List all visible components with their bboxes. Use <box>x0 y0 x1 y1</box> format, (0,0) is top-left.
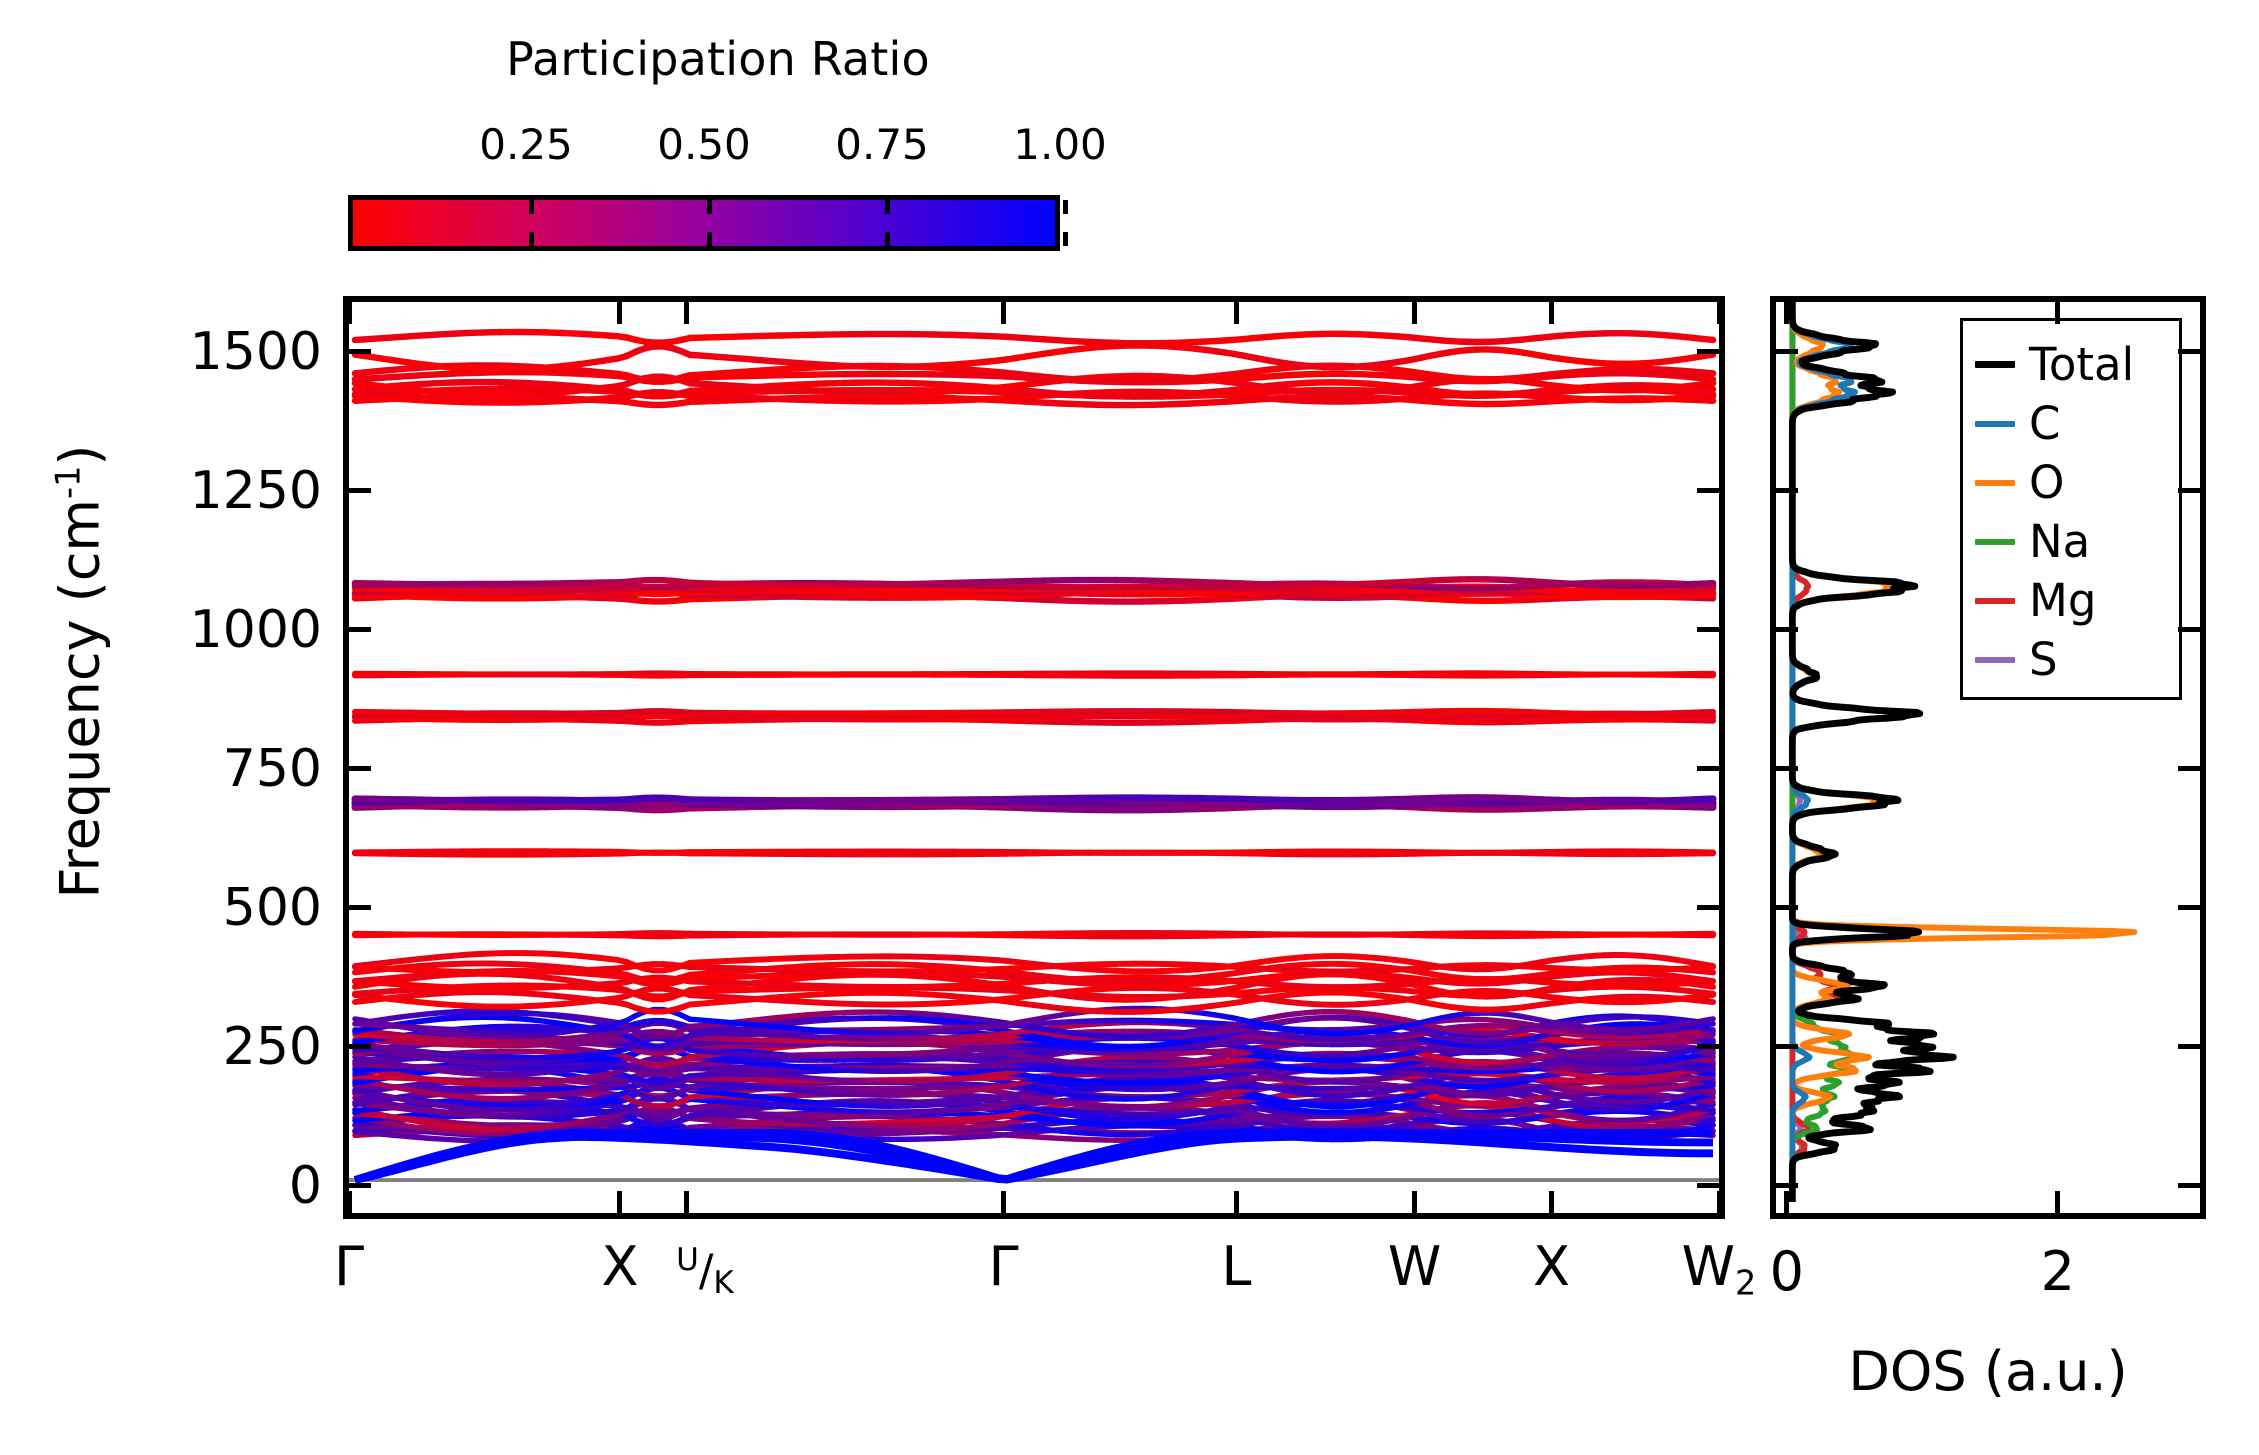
colorbar-tick <box>529 200 534 214</box>
colorbar-tick <box>1063 200 1068 214</box>
colorbar-tick <box>885 200 890 214</box>
y-axis-tick-label: 1250 <box>190 461 322 521</box>
phonon-band-segment <box>1704 1124 1713 1125</box>
colorbar-tick-label: 0.50 <box>657 120 751 169</box>
colorbar-tick-label: 1.00 <box>1013 120 1107 169</box>
phonon-band-segment <box>1704 1076 1713 1077</box>
y-axis-tick-label: 1000 <box>190 600 322 660</box>
phonon-band-segment <box>1704 1073 1713 1074</box>
phonon-band-segment <box>1704 1119 1713 1120</box>
y-axis-title-exponent: -1 <box>49 466 88 499</box>
phonon-band-segment <box>1704 1090 1713 1092</box>
y-axis-tick-label: 1500 <box>190 322 322 382</box>
y-axis-title: Frequency (cm-1) <box>49 292 112 1052</box>
participation-ratio-colorbar <box>348 195 1060 251</box>
phonon-band-segment <box>1704 1069 1713 1070</box>
y-axis-tick-label: 250 <box>223 1017 322 1077</box>
phonon-band-segment <box>1704 1086 1713 1087</box>
y-axis-tick-label: 500 <box>223 878 322 938</box>
y-axis-title-text: Frequency (cm <box>49 499 112 899</box>
colorbar-tick <box>529 232 534 246</box>
y-axis-title-tail: ) <box>49 445 112 466</box>
y-axis-tick-label: 750 <box>223 739 322 799</box>
y-axis-tick-label: 0 <box>289 1156 322 1216</box>
phonon-band-segment <box>1704 1080 1713 1082</box>
colorbar-tick-labels: 0.250.500.751.00 <box>348 120 1088 170</box>
band-structure-panel <box>343 296 1725 1219</box>
band-structure-curves <box>349 302 1719 1213</box>
phonon-band-segment <box>1704 1101 1713 1102</box>
colorbar-tick <box>1063 232 1068 246</box>
phonon-band-segment <box>1704 1109 1713 1110</box>
colorbar-tick <box>707 200 712 214</box>
colorbar-tick-label: 0.25 <box>479 120 573 169</box>
colorbar-tick-label: 0.75 <box>835 120 929 169</box>
phonon-band-dos-figure: Participation Ratio 0.250.500.751.00 025… <box>0 0 2259 1455</box>
phonon-band-segment <box>1704 1060 1713 1061</box>
colorbar-tick <box>707 232 712 246</box>
colorbar-title: Participation Ratio <box>348 32 1088 86</box>
colorbar-tick <box>885 232 890 246</box>
